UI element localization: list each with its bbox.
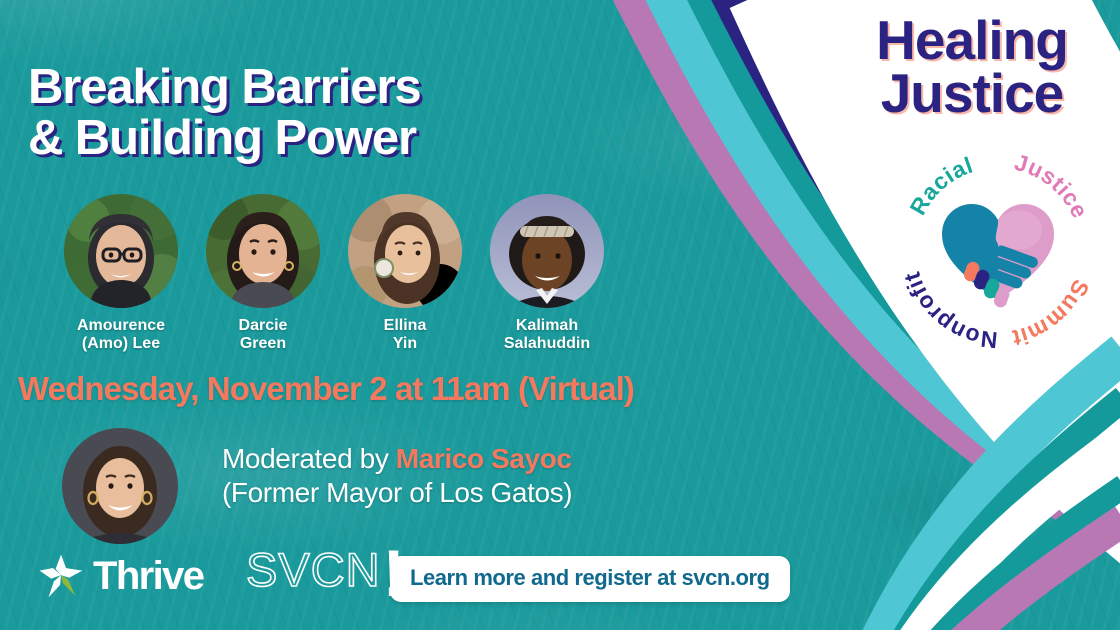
speaker-card: Darcie Green (204, 194, 322, 353)
speaker-photo (348, 194, 462, 308)
speaker-list: Amourence (Amo) Lee (62, 194, 642, 353)
speaker-name-line2: Salahuddin (504, 335, 590, 353)
moderator-prefix: Moderated by (222, 443, 396, 474)
speaker-card: Kalimah Salahuddin (488, 194, 606, 353)
svcn-wordmark: SVCN (246, 546, 381, 593)
speaker-card: Ellina Yin (346, 194, 464, 353)
speaker-name-line2: (Amo) Lee (77, 335, 165, 353)
thrive-logo[interactable]: Thrive (36, 549, 203, 603)
moderator-photo (62, 428, 178, 544)
speaker-name-line1: Amourence (77, 317, 165, 334)
speaker-card: Amourence (Amo) Lee (62, 194, 180, 353)
healing-justice-line2: Justice (836, 67, 1108, 120)
speaker-photo (64, 194, 178, 308)
nonprofit-racial-justice-summit-logo: Racial Justice Summit Nonprofit (898, 150, 1098, 350)
event-headline: Breaking Barriers & Building Power (28, 62, 628, 164)
speaker-name-line2: Yin (384, 335, 427, 353)
speaker-name: Darcie Green (239, 317, 288, 353)
event-datetime: Wednesday, November 2 at 11am (Virtual) (18, 370, 778, 408)
moderator-subtitle: (Former Mayor of Los Gatos) (222, 476, 692, 510)
thrive-wordmark: Thrive (93, 556, 203, 596)
register-cta-button[interactable]: Learn more and register at svcn.org (390, 556, 790, 602)
healing-justice-title: Healing Justice (836, 14, 1108, 120)
speaker-name: Kalimah Salahuddin (504, 317, 590, 353)
headline-line2: & Building Power (28, 113, 628, 164)
speaker-name: Ellina Yin (384, 317, 427, 353)
speaker-name-line1: Darcie (239, 317, 288, 334)
portrait-kalimah-salahuddin-icon (490, 194, 604, 308)
headline-line1: Breaking Barriers (28, 60, 421, 114)
portrait-darcie-green-icon (206, 194, 320, 308)
portrait-marico-sayoc-icon (62, 428, 178, 544)
speaker-name-line1: Kalimah (516, 317, 578, 334)
summit-logo-svg: Racial Justice Summit Nonprofit (898, 150, 1098, 350)
summit-word-summit: Summit (1010, 276, 1095, 350)
clasped-hands-heart-icon (942, 204, 1054, 309)
moderator-name: Marico Sayoc (396, 443, 572, 474)
speaker-name-line1: Ellina (384, 317, 427, 334)
speaker-name: Amourence (Amo) Lee (77, 317, 165, 353)
portrait-ellina-yin-icon (348, 194, 462, 308)
portrait-amourence-lee-icon (64, 194, 178, 308)
promo-poster: Healing Justice (0, 0, 1120, 630)
svcn-logo[interactable]: SVCN ! (246, 546, 405, 600)
speaker-name-line2: Green (239, 335, 288, 353)
speaker-photo (490, 194, 604, 308)
svg-text:Summit: Summit (1010, 276, 1095, 350)
moderator-credit: Moderated by Marico Sayoc (Former Mayor … (222, 442, 692, 509)
speaker-photo (206, 194, 320, 308)
thrive-pinwheel-star-icon (36, 551, 86, 601)
